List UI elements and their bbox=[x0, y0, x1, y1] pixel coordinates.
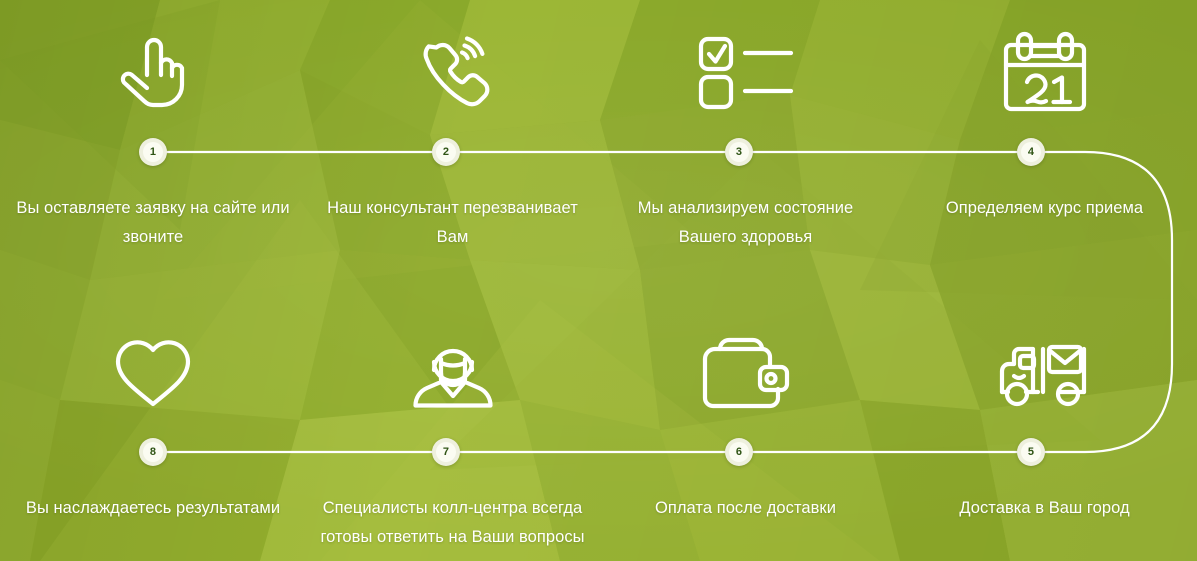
step-badge-3[interactable]: 3 bbox=[725, 138, 753, 166]
step-badge-number: 5 bbox=[1028, 447, 1034, 458]
step-badge-1[interactable]: 1 bbox=[139, 138, 167, 166]
step-badge-number: 7 bbox=[443, 447, 449, 458]
wallet-icon bbox=[599, 325, 892, 421]
pointing-hand-icon bbox=[0, 24, 306, 120]
process-step-6[interactable]: Оплата после доставки bbox=[599, 300, 892, 561]
step-caption: Наш консультант перезванивает Вам bbox=[306, 194, 599, 252]
step-caption: Вы оставляете заявку на сайте или звонит… bbox=[0, 194, 306, 252]
delivery-truck-icon bbox=[892, 325, 1197, 421]
step-badge-5[interactable]: 5 bbox=[1017, 438, 1045, 466]
step-caption: Специалисты колл-центра всегда готовы от… bbox=[306, 494, 599, 552]
step-caption: Вы наслаждаетесь результатами bbox=[0, 494, 306, 523]
step-badge-4[interactable]: 4 bbox=[1017, 138, 1045, 166]
checklist-icon bbox=[599, 24, 892, 120]
step-caption: Оплата после доставки bbox=[599, 494, 892, 523]
process-step-7[interactable]: Специалисты колл-центра всегда готовы от… bbox=[306, 300, 599, 561]
step-caption: Определяем курс приема bbox=[892, 194, 1197, 223]
process-step-8[interactable]: Вы наслаждаетесь результатами bbox=[0, 300, 306, 561]
step-badge-number: 8 bbox=[150, 447, 156, 458]
process-row-top: Вы оставляете заявку на сайте или звонит… bbox=[0, 0, 1197, 280]
process-step-5[interactable]: Доставка в Ваш город bbox=[892, 300, 1197, 561]
step-badge-number: 4 bbox=[1028, 147, 1034, 158]
process-infographic: Вы оставляете заявку на сайте или звонит… bbox=[0, 0, 1197, 561]
step-badge-number: 6 bbox=[736, 447, 742, 458]
step-badge-number: 3 bbox=[736, 147, 742, 158]
ringing-phone-icon bbox=[306, 24, 599, 120]
heart-icon bbox=[0, 325, 306, 421]
process-step-4[interactable]: Определяем курс приема bbox=[892, 0, 1197, 280]
step-caption: Мы анализируем состояние Вашего здоровья bbox=[599, 194, 892, 252]
step-badge-2[interactable]: 2 bbox=[432, 138, 460, 166]
step-badge-7[interactable]: 7 bbox=[432, 438, 460, 466]
process-row-bottom: Вы наслаждаетесь результатами Специалист… bbox=[0, 300, 1197, 561]
step-badge-6[interactable]: 6 bbox=[725, 438, 753, 466]
step-badge-8[interactable]: 8 bbox=[139, 438, 167, 466]
step-badge-number: 2 bbox=[443, 147, 449, 158]
calendar-21-icon bbox=[892, 24, 1197, 120]
call-center-operator-icon bbox=[306, 325, 599, 421]
step-caption: Доставка в Ваш город bbox=[892, 494, 1197, 523]
step-badge-number: 1 bbox=[150, 147, 156, 158]
